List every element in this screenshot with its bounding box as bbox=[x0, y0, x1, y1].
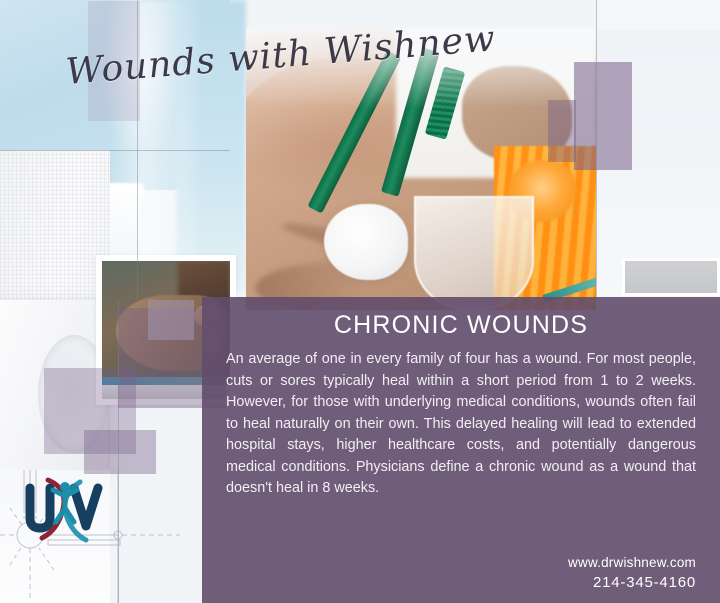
wishnew-logo[interactable] bbox=[24, 474, 110, 544]
contact-phone[interactable]: 214-345-4160 bbox=[568, 574, 696, 591]
glass-dish bbox=[414, 196, 534, 310]
decor-lavender-small bbox=[148, 300, 194, 340]
top-white-bar bbox=[596, 0, 720, 30]
contact-website[interactable]: www.drwishnew.com bbox=[568, 555, 696, 570]
guide-line-horizontal-top bbox=[0, 150, 230, 151]
decor-purple-top-right-small bbox=[548, 100, 576, 162]
contact-block: www.drwishnew.com 214-345-4160 bbox=[568, 555, 696, 591]
decor-purple-lower-bar bbox=[84, 430, 156, 474]
decor-purple-top-right bbox=[574, 62, 632, 170]
poster-canvas: Wounds with Wishnew CHRONIC WOUNDS An av… bbox=[0, 0, 720, 603]
guide-line-vertical-right bbox=[596, 0, 597, 300]
panel-body-text: An average of one in every family of fou… bbox=[226, 349, 696, 500]
panel-headline: CHRONIC WOUNDS bbox=[226, 311, 696, 340]
chronic-wounds-panel: CHRONIC WOUNDS An average of one in ever… bbox=[202, 297, 720, 603]
grey-accent-card bbox=[622, 258, 720, 296]
cotton-ball bbox=[324, 204, 408, 280]
